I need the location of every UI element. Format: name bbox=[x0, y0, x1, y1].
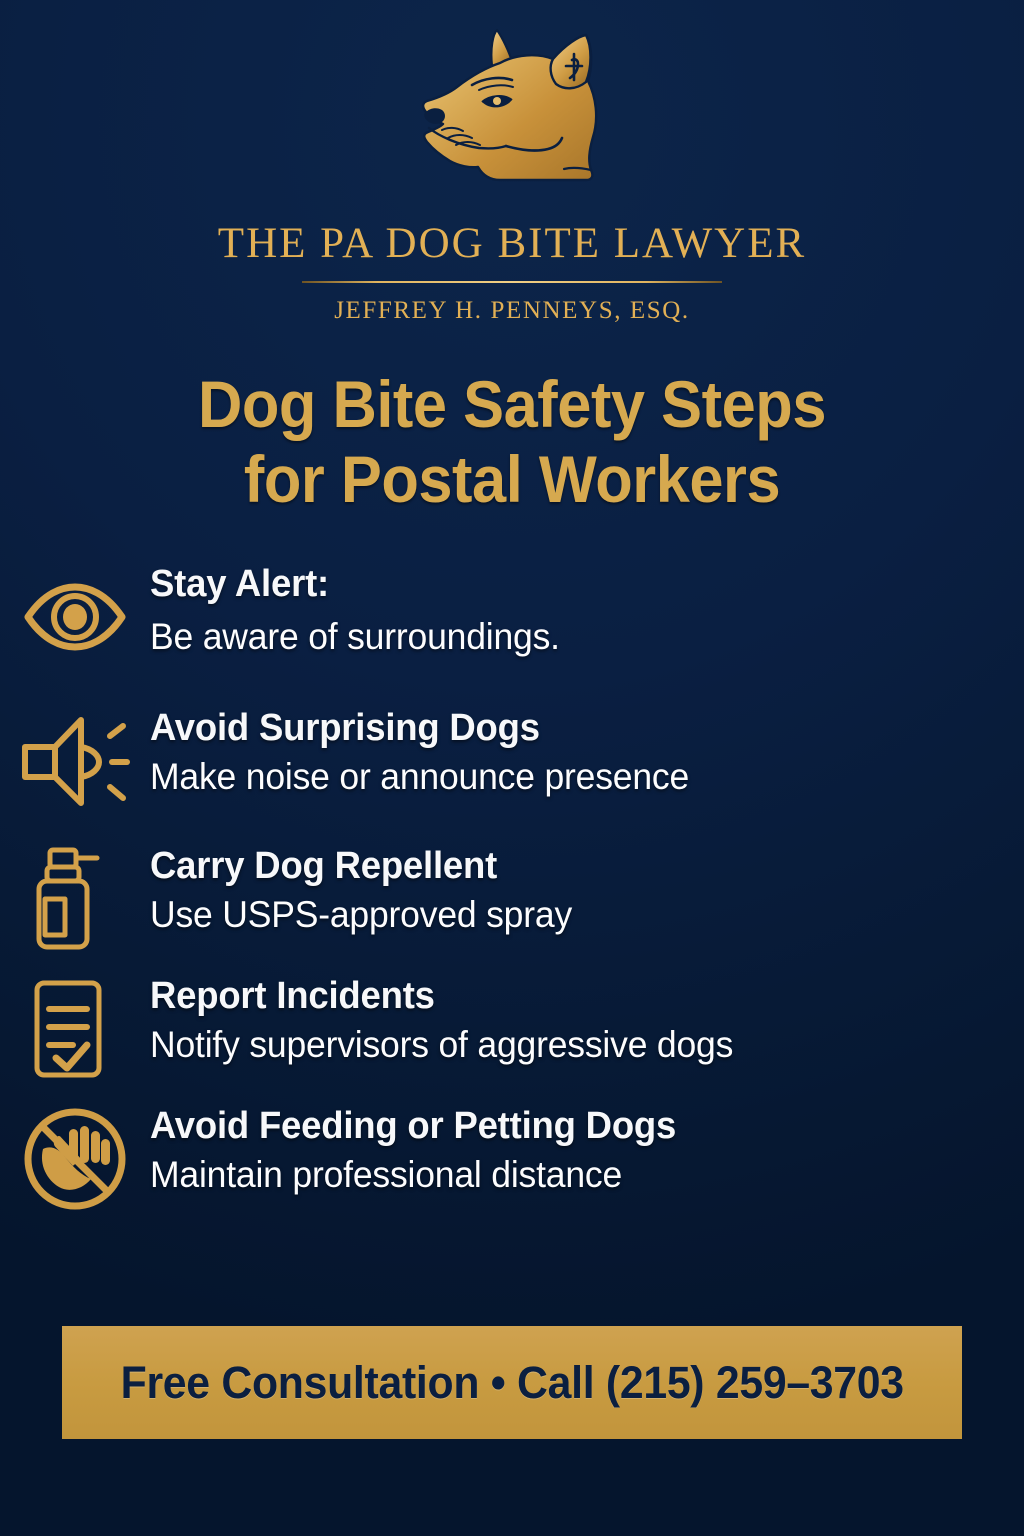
list-item-text: Stay Alert: Be aware of surroundings. bbox=[150, 561, 996, 658]
page-title: Dog Bite Safety Steps for Postal Workers bbox=[36, 367, 988, 517]
clipboard-checklist-icon bbox=[0, 973, 150, 1081]
eye-icon bbox=[0, 561, 150, 669]
brand-divider bbox=[302, 281, 722, 283]
list-item: Report Incidents Notify supervisors of a… bbox=[0, 973, 996, 1089]
list-item-title: Carry Dog Repellent bbox=[150, 845, 962, 888]
page-title-line-2: for Postal Workers bbox=[36, 442, 988, 517]
list-item-title: Avoid Surprising Dogs bbox=[150, 707, 962, 750]
list-item-description: Maintain professional distance bbox=[150, 1153, 962, 1197]
brand-header: THE PA DOG BITE LAWYER JEFFREY H. PENNEY… bbox=[0, 0, 1024, 323]
list-item-title: Avoid Feeding or Petting Dogs bbox=[150, 1105, 962, 1148]
safety-steps-list: Stay Alert: Be aware of surroundings. Av… bbox=[0, 561, 1024, 1219]
infographic-poster: THE PA DOG BITE LAWYER JEFFREY H. PENNEY… bbox=[0, 0, 1024, 1536]
list-item-text: Report Incidents Notify supervisors of a… bbox=[150, 973, 996, 1066]
list-item-text: Carry Dog Repellent Use USPS-approved sp… bbox=[150, 843, 996, 936]
list-item-title: Report Incidents bbox=[150, 975, 962, 1018]
cta-banner[interactable]: Free Consultation • Call (215) 259–3703 bbox=[62, 1326, 962, 1439]
dog-head-logo-icon bbox=[396, 18, 628, 204]
list-item-text: Avoid Feeding or Petting Dogs Maintain p… bbox=[150, 1103, 996, 1196]
list-item: Avoid Feeding or Petting Dogs Maintain p… bbox=[0, 1103, 996, 1219]
list-item: Avoid Surprising Dogs Make noise or anno… bbox=[0, 705, 996, 829]
attorney-name: JEFFREY H. PENNEYS, ESQ. bbox=[0, 298, 1024, 323]
speaker-sound-icon bbox=[0, 705, 150, 813]
no-hand-prohibition-icon bbox=[0, 1103, 150, 1211]
spray-can-icon bbox=[0, 843, 150, 951]
list-item-description: Make noise or announce presence bbox=[150, 755, 962, 799]
page-title-line-1: Dog Bite Safety Steps bbox=[36, 367, 988, 442]
list-item-text: Avoid Surprising Dogs Make noise or anno… bbox=[150, 705, 996, 798]
list-item-description: Be aware of surroundings. bbox=[150, 615, 962, 659]
list-item-title: Stay Alert: bbox=[150, 563, 962, 606]
brand-name: THE PA DOG BITE LAWYER bbox=[0, 222, 1024, 265]
list-item: Carry Dog Repellent Use USPS-approved sp… bbox=[0, 843, 996, 959]
list-item-description: Notify supervisors of aggressive dogs bbox=[150, 1023, 962, 1067]
list-item: Stay Alert: Be aware of surroundings. bbox=[0, 561, 996, 689]
cta-text: Free Consultation • Call (215) 259–3703 bbox=[120, 1357, 903, 1409]
list-item-description: Use USPS-approved spray bbox=[150, 893, 962, 937]
